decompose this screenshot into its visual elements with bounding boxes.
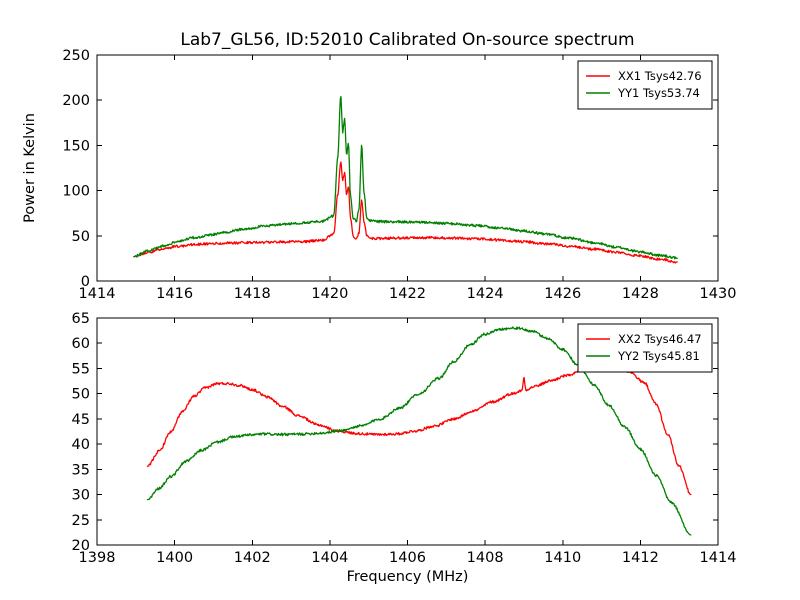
bottom-panel-xticklabel: 1402: [234, 550, 271, 566]
bottom-panel-xticklabel: 1410: [544, 550, 581, 566]
top-panel-yticklabel: 150: [62, 138, 90, 154]
bottom-panel-trace-0: [147, 367, 690, 494]
bottom-panel-yticklabel: 65: [72, 311, 90, 327]
top-panel-xticklabel: 1428: [622, 286, 659, 302]
top-panel-trace-1: [134, 97, 677, 259]
top-panel-legend-label-0: XX1 Tsys42.76: [618, 69, 702, 83]
top-panel-xticklabel: 1422: [389, 286, 426, 302]
bottom-panel-yticklabel: 55: [72, 361, 90, 377]
bottom-panel-yticklabel: 35: [72, 462, 90, 478]
top-panel-xticklabel: 1420: [311, 286, 348, 302]
bottom-panel-legend-label-0: XX2 Tsys46.47: [618, 332, 702, 346]
x-axis-label: Frequency (MHz): [347, 569, 469, 585]
top-panel-xticklabel: 1418: [234, 286, 271, 302]
top-panel-legend-label-1: YY1 Tsys53.74: [617, 86, 700, 100]
y-axis-label: Power in Kelvin: [22, 113, 38, 223]
bottom-panel-legend-label-1: YY2 Tsys45.81: [617, 349, 700, 363]
plot-canvas: 1414141614181420142214241426142814300501…: [0, 0, 800, 600]
bottom-panel-yticklabel: 60: [72, 336, 90, 352]
bottom-panel-yticklabel: 25: [72, 513, 90, 529]
top-panel-yticklabel: 100: [62, 184, 90, 200]
spectrum-figure: 1414141614181420142214241426142814300501…: [0, 0, 800, 600]
bottom-panel-xticklabel: 1404: [311, 550, 348, 566]
top-panel-yticklabel: 250: [62, 48, 90, 64]
top-panel-yticklabel: 50: [72, 229, 90, 245]
bottom-panel-xticklabel: 1406: [389, 550, 426, 566]
top-panel-xticklabel: 1430: [700, 286, 737, 302]
top-panel-trace-0: [134, 162, 677, 263]
bottom-panel-xticklabel: 1414: [700, 550, 737, 566]
top-panel-xticklabel: 1416: [156, 286, 193, 302]
bottom-panel-yticklabel: 20: [72, 538, 90, 554]
top-panel-yticklabel: 200: [62, 93, 90, 109]
bottom-panel-yticklabel: 40: [72, 437, 90, 453]
top-panel-xticklabel: 1426: [544, 286, 581, 302]
bottom-panel-yticklabel: 45: [72, 412, 90, 428]
top-panel-yticklabel: 0: [81, 274, 90, 290]
bottom-panel-yticklabel: 30: [72, 488, 90, 504]
bottom-panel-yticklabel: 50: [72, 387, 90, 403]
bottom-panel-xticklabel: 1412: [622, 550, 659, 566]
bottom-panel-xticklabel: 1408: [467, 550, 504, 566]
top-panel-xticklabel: 1424: [467, 286, 504, 302]
page-title: Lab7_GL56, ID:52010 Calibrated On-source…: [180, 30, 634, 50]
bottom-panel-xticklabel: 1400: [156, 550, 193, 566]
